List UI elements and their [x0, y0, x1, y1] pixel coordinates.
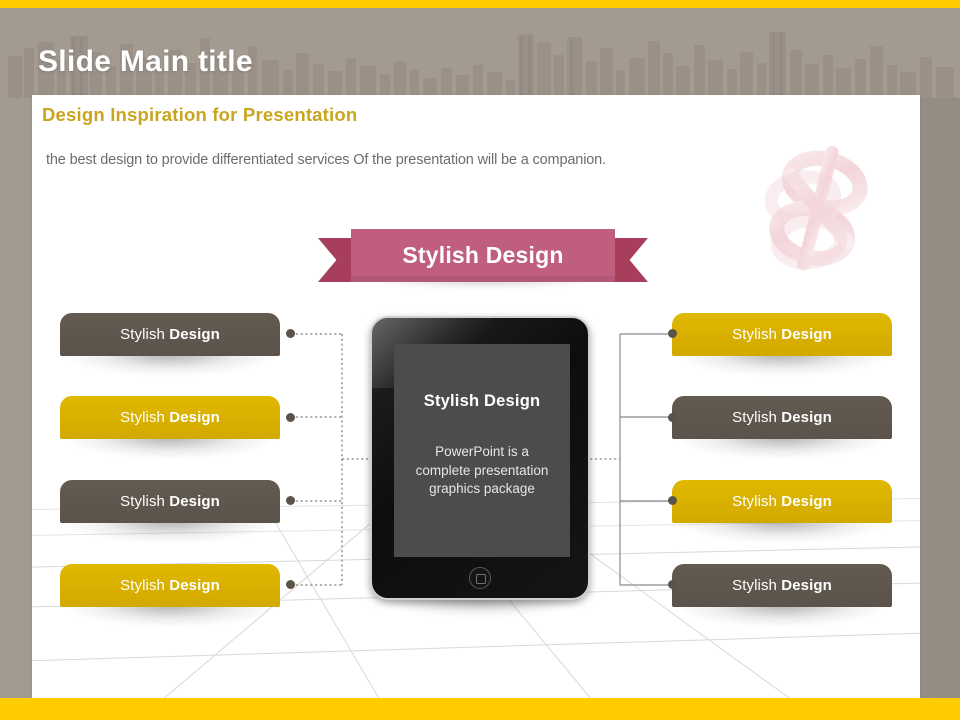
home-square-icon[interactable] [469, 567, 491, 589]
list-item[interactable]: Stylish Design [60, 313, 280, 356]
pill-shadow [64, 354, 276, 376]
list-item-label: Stylish Design [672, 313, 892, 356]
dollar-sign-icon [732, 140, 902, 280]
list-item-label: Stylish Design [60, 313, 280, 356]
list-item[interactable]: Stylish Design [672, 564, 892, 607]
connector-dot [668, 329, 677, 338]
list-item-label: Stylish Design [672, 480, 892, 523]
panel-heading: Design Inspiration for Presentation [42, 104, 357, 126]
pill-shadow [676, 521, 888, 543]
pill-shadow [64, 605, 276, 627]
tablet-screen-title: Stylish Design [406, 392, 558, 411]
connector-dot [286, 329, 295, 338]
list-item[interactable]: Stylish Design [672, 313, 892, 356]
connector-dot [286, 496, 295, 505]
content-panel: Design Inspiration for Presentation the … [32, 95, 920, 700]
top-accent-bar [0, 0, 960, 8]
pill-shadow [676, 605, 888, 627]
tablet-device: Stylish Design PowerPoint is a complete … [370, 316, 590, 602]
panel-subtitle: the best design to provide differentiate… [46, 152, 606, 168]
pill-shadow [64, 521, 276, 543]
list-item-label: Stylish Design [60, 396, 280, 439]
list-item[interactable]: Stylish Design [672, 480, 892, 523]
ribbon-label: Stylish Design [351, 229, 615, 282]
list-item[interactable]: Stylish Design [60, 480, 280, 523]
tablet-screen-body: PowerPoint is a complete presentation gr… [406, 443, 558, 499]
connector-dot [668, 496, 677, 505]
connector-dot [668, 413, 677, 422]
list-item-label: Stylish Design [672, 564, 892, 607]
slide-canvas: Slide Main title Design Inspiration for … [0, 0, 960, 720]
pill-shadow [64, 437, 276, 459]
connector-dot [668, 580, 677, 589]
list-item[interactable]: Stylish Design [60, 564, 280, 607]
list-item-label: Stylish Design [672, 396, 892, 439]
slide-main-title: Slide Main title [38, 45, 253, 79]
list-item[interactable]: Stylish Design [60, 396, 280, 439]
connector-dot [286, 580, 295, 589]
bottom-accent-bar [0, 698, 960, 720]
list-item-label: Stylish Design [60, 480, 280, 523]
connector-dot [286, 413, 295, 422]
tablet-body: Stylish Design PowerPoint is a complete … [370, 316, 590, 600]
pill-shadow [676, 437, 888, 459]
ribbon-banner: Stylish Design [318, 229, 648, 291]
list-item-label: Stylish Design [60, 564, 280, 607]
pill-shadow [676, 354, 888, 376]
tablet-screen: Stylish Design PowerPoint is a complete … [394, 344, 570, 557]
list-item[interactable]: Stylish Design [672, 396, 892, 439]
